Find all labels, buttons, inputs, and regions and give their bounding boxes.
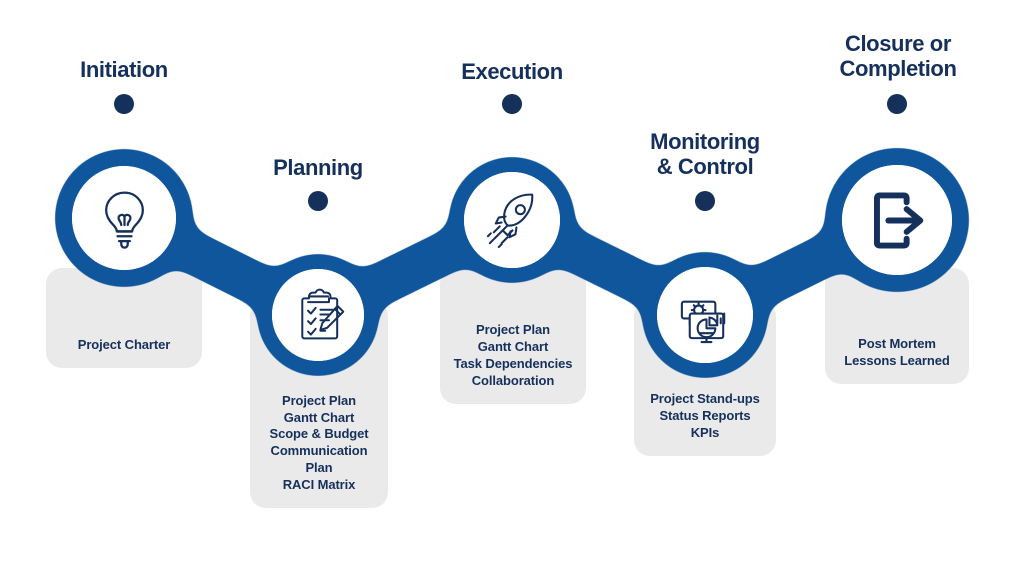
monitor-analytics-gear-icon: [674, 284, 737, 347]
lifecycle-diagram: Project CharterProject PlanGantt ChartSc…: [0, 0, 1024, 562]
stage-icons-layer: [0, 0, 1024, 562]
lightbulb-icon: [90, 184, 159, 253]
clipboard-checklist-pen-icon: [288, 285, 349, 346]
rocket-icon: [481, 189, 544, 252]
exit-door-arrow-icon: [861, 184, 934, 257]
